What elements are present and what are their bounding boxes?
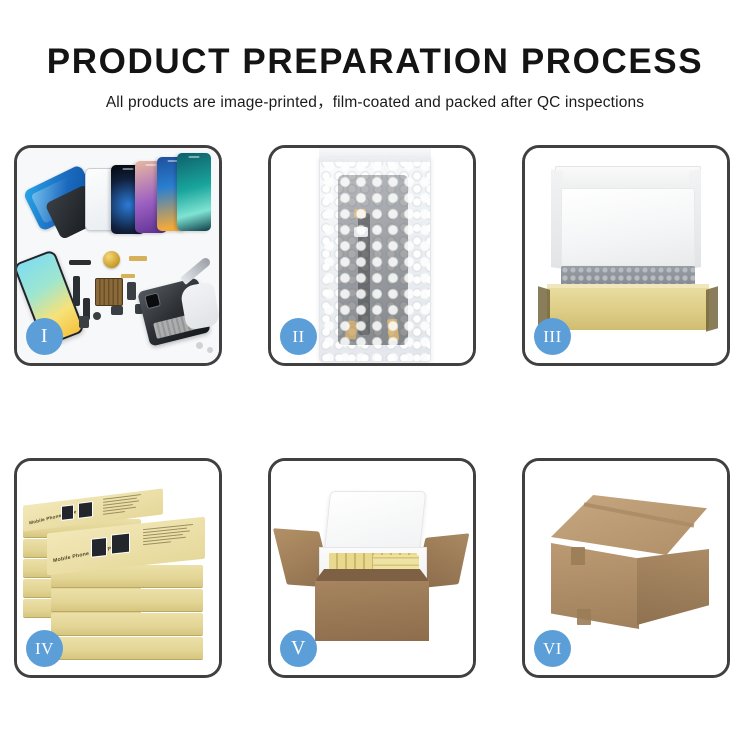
screw-icon-1 <box>196 342 203 349</box>
step-badge-2: II <box>280 318 317 355</box>
infographic-root: PRODUCT PREPARATION PROCESS All products… <box>0 0 750 750</box>
box-print-phone-front-2 <box>111 533 130 555</box>
chip-grid-icon <box>95 278 123 306</box>
process-step-panel-5[interactable]: V <box>268 458 476 678</box>
step-badge-1: I <box>26 318 63 355</box>
step-badge-5: V <box>280 630 317 667</box>
carton-front-face-icon <box>551 543 639 629</box>
process-step-panel-4[interactable]: Mobile Phone Spare Parts Mobile Phone Sp… <box>14 458 222 678</box>
box-print-spec-rear <box>103 494 143 517</box>
hand-icon <box>179 281 219 330</box>
small-part-icon-2 <box>111 306 123 315</box>
page-subtitle: All products are image-printed，film-coat… <box>0 95 750 111</box>
stacked-box-f3 <box>51 613 203 635</box>
small-part-icon-1 <box>127 282 136 300</box>
carton-side-face-icon <box>637 549 709 625</box>
step-badge-6: VI <box>534 630 571 667</box>
small-part-icon-3 <box>93 312 101 320</box>
stacked-box-f4 <box>51 637 203 659</box>
box-print-phone-front-1 <box>91 537 107 558</box>
flex-cable-icon-1 <box>69 260 91 265</box>
process-step-grid: I II <box>14 145 736 679</box>
header: PRODUCT PREPARATION PROCESS All products… <box>0 0 750 111</box>
carton-body-icon <box>315 579 429 641</box>
yellow-box-front-icon <box>547 288 709 330</box>
step-badge-4: IV <box>26 630 63 667</box>
process-step-panel-3[interactable]: III <box>522 145 730 366</box>
step-badge-3: III <box>534 318 571 355</box>
wrapped-spare-part-icon <box>338 175 408 345</box>
process-step-panel-6[interactable]: VI <box>522 458 730 678</box>
box-print-spec-front <box>143 524 195 547</box>
gold-connector-icon-2 <box>121 274 135 278</box>
process-step-panel-2[interactable]: II <box>268 145 476 366</box>
page-title: PRODUCT PREPARATION PROCESS <box>0 44 750 79</box>
flex-cable-icon-2 <box>73 276 80 306</box>
box-print-phone-rear-2 <box>78 501 93 519</box>
carton-tape-icon-2 <box>577 609 591 625</box>
carton-tape-icon-1 <box>571 547 585 565</box>
stacked-box-f2 <box>51 589 203 611</box>
white-foam-sheet-icon <box>561 188 695 266</box>
round-component-icon <box>103 251 120 268</box>
foam-cooler-lid-icon <box>324 491 427 553</box>
process-step-panel-1[interactable]: I <box>14 145 222 366</box>
phone-front-4-icon <box>177 153 211 231</box>
gold-connector-icon-1 <box>129 256 147 261</box>
small-part-icon-4 <box>79 316 89 328</box>
screw-icon-2 <box>207 347 213 353</box>
bubble-wrap-bag-icon <box>319 156 431 362</box>
bag-seal-icon <box>319 148 431 162</box>
box-print-phone-rear-1 <box>61 504 74 521</box>
